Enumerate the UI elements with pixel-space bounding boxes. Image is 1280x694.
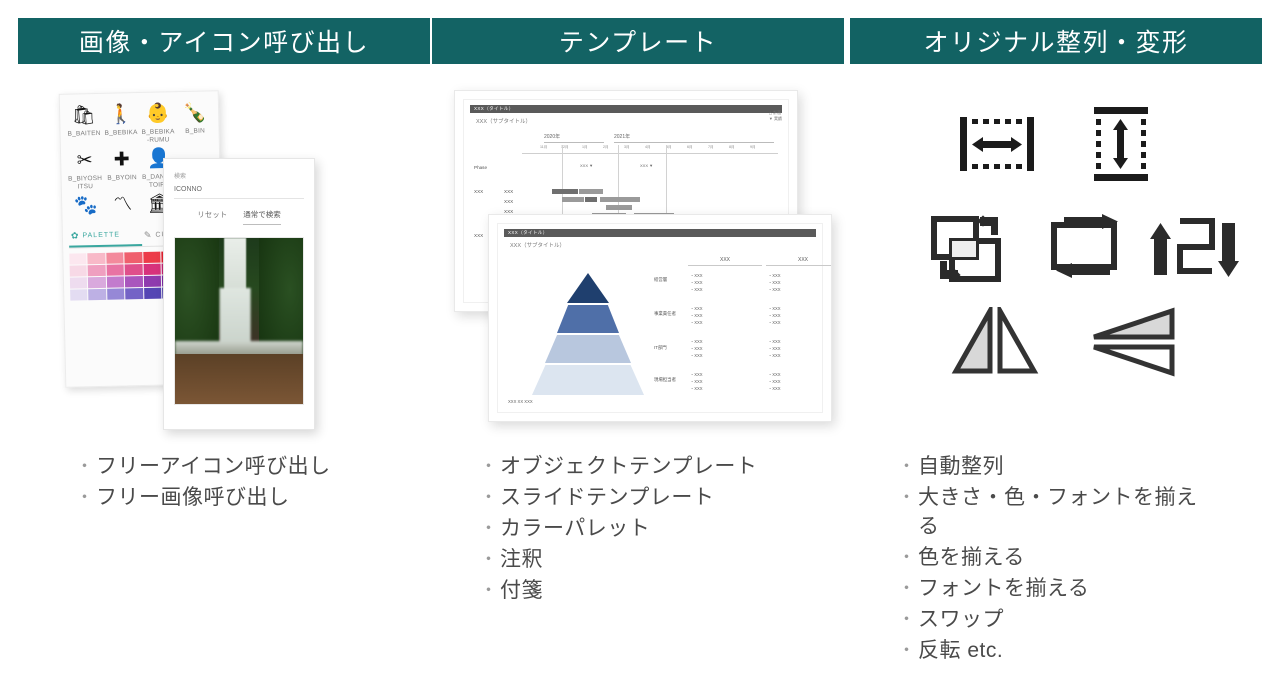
list-item-label: カラーパレット <box>500 514 790 543</box>
list-item-label: 色を揃える <box>918 543 1218 572</box>
list-item: ・ スライドテンプレート <box>480 483 840 512</box>
color-swatch[interactable] <box>124 252 142 263</box>
pyramid-cell: ・XXX <box>768 287 781 293</box>
pyramid-cell: ・XXX <box>690 372 703 378</box>
empty-icon-slot <box>178 146 213 147</box>
bullet-dot-icon: ・ <box>898 483 918 512</box>
list-item-label: フリーアイコン呼び出し <box>96 452 426 481</box>
pyramid-footnote: XXX XX XXX <box>508 399 533 404</box>
color-swatch[interactable] <box>88 253 106 264</box>
gantt-sub-label: XXX <box>504 189 513 194</box>
pyramid-level-1 <box>567 273 609 303</box>
pyramid-cell: ・XXX <box>768 353 781 359</box>
pyramid-cell: ・XXX <box>690 306 703 312</box>
column-template: テンプレート XXX（タイトル） XXX（サブタイトル） △ 計画 ▼ 実績 2 <box>432 0 844 694</box>
waterfall-photo <box>174 237 304 405</box>
list-item-label: 自動整列 <box>918 452 1218 481</box>
slide-title-bar: XXX（タイトル） <box>504 229 816 237</box>
gantt-month-tick: 4月 <box>645 145 651 150</box>
list-item-label: フォントを揃える <box>918 574 1218 603</box>
pyramid-cell: ・XXX <box>768 339 781 345</box>
bullet-dot-icon: ・ <box>898 574 918 603</box>
column-header-images-icons: 画像・アイコン呼び出し <box>18 18 430 64</box>
column-header-template: テンプレート <box>432 18 844 64</box>
pyramid-cell: ・XXX <box>690 353 703 359</box>
icon-cell[interactable]: 〽 <box>105 193 141 220</box>
pyramid-template-card[interactable]: XXX（タイトル） XXX（サブタイトル） 経営層 事業責任者 IT部門 <box>488 214 832 422</box>
pyramid-level-label: 経営層 <box>654 277 667 283</box>
pyramid-cell: ・XXX <box>690 280 703 286</box>
pyramid-subtitle: XXX（サブタイトル） <box>510 241 816 249</box>
icon-label: B_BAITEN <box>67 130 102 138</box>
icon-label <box>178 148 213 149</box>
swap-horizontal-icon[interactable] <box>1046 213 1130 283</box>
icon-cell[interactable]: 🚶 B_BEBIKA <box>103 103 139 145</box>
list-item: ・ オブジェクトテンプレート <box>480 452 840 481</box>
bullet-dot-icon: ・ <box>898 452 918 481</box>
gantt-year: 2020年 <box>544 133 604 143</box>
pyramid-cell: ・XXX <box>768 379 781 385</box>
pyramid-cell: ・XXX <box>768 372 781 378</box>
list-item: ・ 大きさ・色・フォントを揃える <box>898 483 1258 541</box>
pyramid-level-label: 事業責任者 <box>654 311 676 317</box>
reset-button[interactable]: リセット <box>197 209 227 225</box>
list-item-label: オブジェクトテンプレート <box>500 452 790 481</box>
scissors-icon: ✂ <box>67 149 103 174</box>
color-swatch[interactable] <box>70 289 88 300</box>
pyramid-cell: ・XXX <box>768 386 781 392</box>
gantt-legend: △ 計画 ▼ 実績 <box>769 110 782 122</box>
color-swatch[interactable] <box>125 288 143 299</box>
bullets-template: ・ オブジェクトテンプレート ・ スライドテンプレート ・ カラーパレット ・ … <box>480 452 840 607</box>
gantt-row-label: XXX <box>474 233 483 238</box>
gantt-sub-label: XXX <box>504 199 513 204</box>
pyramid-cell: ・XXX <box>690 346 703 352</box>
list-item: ・ フリー画像呼び出し <box>76 483 426 512</box>
color-swatch[interactable] <box>143 264 161 275</box>
distribute-horizontal-icon[interactable] <box>958 113 1036 175</box>
slide-title-bar: XXX（タイトル） <box>470 105 782 113</box>
list-item-label: スワップ <box>918 605 1218 634</box>
gantt-group-label: Phase <box>474 165 487 170</box>
shopping-bag-icon: 🛍 <box>66 104 102 129</box>
gantt-month-tick: 1月 <box>582 145 588 150</box>
pyramid-cell: ・XXX <box>690 379 703 385</box>
bullet-dot-icon: ・ <box>480 576 500 605</box>
resize-object-icon[interactable] <box>928 213 1012 283</box>
tab-palette-label: PALETTE <box>82 231 120 239</box>
color-swatch[interactable] <box>144 288 162 299</box>
pyramid-cell: ・XXX <box>690 320 703 326</box>
pyramid-cell: ・XXX <box>690 339 703 345</box>
color-swatch[interactable] <box>69 253 87 264</box>
pyramid-cell: ・XXX <box>768 346 781 352</box>
gantt-title: XXX（タイトル） <box>474 106 514 112</box>
gantt-year: 2021年 <box>614 133 774 143</box>
pyramid-level-4 <box>532 365 644 395</box>
color-swatch[interactable] <box>89 289 107 300</box>
pyramid-graphic <box>528 273 648 401</box>
tab-palette[interactable]: ✿ PALETTE <box>69 225 142 248</box>
flip-vertical-icon[interactable] <box>1088 307 1178 377</box>
icon-cell[interactable]: 🛍 B_BAITEN <box>66 104 102 146</box>
pyramid-column-header: XXX <box>766 257 832 266</box>
list-item: ・ 色を揃える <box>898 543 1258 572</box>
slope-icon: 〽 <box>105 193 141 218</box>
pyramid-cell: ・XXX <box>690 273 703 279</box>
color-swatch[interactable] <box>143 252 161 263</box>
color-swatch[interactable] <box>125 264 143 275</box>
color-swatch[interactable] <box>107 276 125 287</box>
riverbank <box>175 354 303 404</box>
list-item-label: スライドテンプレート <box>500 483 790 512</box>
gantt-bar <box>585 197 597 202</box>
pyramid-cell: ・XXX <box>690 386 703 392</box>
list-item: ・ 付箋 <box>480 576 840 605</box>
search-button[interactable]: 通常で検索 <box>243 209 281 225</box>
gantt-bar <box>552 189 578 194</box>
color-swatch[interactable] <box>143 276 161 287</box>
gantt-subtitle: XXX（サブタイトル） <box>476 117 782 125</box>
gantt-bar <box>606 205 632 210</box>
bottle-icon: 🍾 <box>177 101 213 126</box>
icon-cell[interactable]: ✂ B_BIYOSHITSU <box>67 149 103 191</box>
list-item-label: 付箋 <box>500 576 790 605</box>
pyramid-level-label: IT部門 <box>654 345 667 351</box>
gantt-month-tick: 3月 <box>624 145 630 150</box>
icon-cell[interactable]: ✚ B_BYOIN <box>104 148 140 190</box>
pyramid-slide: XXX（タイトル） XXX（サブタイトル） 経営層 事業責任者 IT部門 <box>497 223 823 413</box>
list-item: ・ フォントを揃える <box>898 574 1258 603</box>
column-header-align-transform: オリジナル整列・変形 <box>850 18 1262 64</box>
list-item-label: 反転 etc. <box>918 636 1218 665</box>
gantt-month-tick: 7月 <box>708 145 714 150</box>
color-swatch[interactable] <box>106 264 124 275</box>
list-item-label: 注釈 <box>500 545 790 574</box>
color-swatch[interactable] <box>125 276 143 287</box>
icon-label: B_BIN <box>177 127 212 135</box>
column-images-icons: 画像・アイコン呼び出し 🛍 B_BAITEN 🚶 B_BEBIKA 👶 B_BE <box>18 0 430 694</box>
gantt-month-tick: 9月 <box>750 145 756 150</box>
bullet-dot-icon: ・ <box>480 545 500 574</box>
search-card-actions: リセット 通常で検索 <box>174 209 304 225</box>
distribute-vertical-icon[interactable] <box>1090 105 1152 183</box>
icon-label: B_BYOIN <box>105 174 140 182</box>
gantt-milestone-label: XXX ▼ <box>640 163 653 168</box>
gantt-month-tick: 11月 <box>540 145 547 150</box>
column-align-transform: オリジナル整列・変形 <box>850 0 1262 694</box>
bullet-dot-icon: ・ <box>76 483 96 512</box>
pyramid-level-2 <box>557 305 619 333</box>
bullet-dot-icon: ・ <box>898 605 918 634</box>
icon-cell[interactable]: 👶 B_BEBIKA-RUMU <box>140 102 176 144</box>
brush-icon: ✎ <box>144 230 153 241</box>
icon-cell[interactable]: 🐾 <box>68 194 104 221</box>
slide-root: 画像・アイコン呼び出し 🛍 B_BAITEN 🚶 B_BEBIKA 👶 B_BE <box>0 0 1280 694</box>
pyramid-cell: ・XXX <box>690 313 703 319</box>
palette-icon: ✿ <box>71 230 80 241</box>
pyramid-title: XXX（タイトル） <box>508 230 548 236</box>
bullet-dot-icon: ・ <box>480 452 500 481</box>
color-swatch[interactable] <box>106 252 124 263</box>
list-item: ・ フリーアイコン呼び出し <box>76 452 426 481</box>
search-field-label: 検索 <box>174 171 304 180</box>
template-artwork: XXX（タイトル） XXX（サブタイトル） △ 計画 ▼ 実績 2020年 20… <box>432 88 844 428</box>
icon-label: B_BEBIKA-RUMU <box>141 128 176 144</box>
pyramid-diagram-area: 経営層 事業責任者 IT部門 現場担当者 XXX XXX ・XXX・XXX・XX… <box>504 259 816 409</box>
pyramid-cell: ・XXX <box>768 273 781 279</box>
icon-label: B_BEBIKA <box>104 129 139 137</box>
stroller-icon: 🚶 <box>103 103 139 128</box>
color-swatch[interactable] <box>70 277 88 288</box>
list-item: ・ 反転 etc. <box>898 636 1258 665</box>
icon-label: B_BIYOSHITSU <box>68 175 103 191</box>
list-item-label: 大きさ・色・フォントを揃える <box>918 483 1218 541</box>
pyramid-cell: ・XXX <box>768 280 781 286</box>
image-search-card[interactable]: 検索 ICONNO リセット 通常で検索 <box>163 158 315 430</box>
pyramid-level-label: 現場担当者 <box>654 377 676 383</box>
icon-label <box>106 219 141 220</box>
list-item: ・ 注釈 <box>480 545 840 574</box>
pyramid-cell: ・XXX <box>690 287 703 293</box>
bullet-dot-icon: ・ <box>480 483 500 512</box>
list-item: ・ スワップ <box>898 605 1258 634</box>
gantt-milestone-label: XXX ▼ <box>580 163 593 168</box>
gantt-bar <box>579 189 603 194</box>
gantt-year-axis: 2020年 2021年 <box>522 133 778 145</box>
paw-print-icon: 🐾 <box>68 194 104 219</box>
gantt-month-tick: 2月 <box>603 145 609 150</box>
gantt-bar <box>562 197 584 202</box>
pyramid-cell: ・XXX <box>768 320 781 326</box>
color-swatch[interactable] <box>88 265 106 276</box>
gantt-month-tick: 8月 <box>729 145 735 150</box>
color-swatch[interactable] <box>70 265 88 276</box>
legend-actual: ▼ 実績 <box>769 116 782 122</box>
pyramid-cell: ・XXX <box>768 306 781 312</box>
list-item-label: フリー画像呼び出し <box>96 483 426 512</box>
bullet-dot-icon: ・ <box>898 543 918 572</box>
icon-label <box>69 220 104 221</box>
list-item: ・ 自動整列 <box>898 452 1258 481</box>
gantt-row-label: XXX <box>474 189 483 194</box>
images-icons-artwork: 🛍 B_BAITEN 🚶 B_BEBIKA 👶 B_BEBIKA-RUMU 🍾 … <box>18 88 430 428</box>
bullets-align-transform: ・ 自動整列 ・ 大きさ・色・フォントを揃える ・ 色を揃える ・ フォントを揃… <box>898 452 1258 667</box>
pyramid-level-3 <box>545 335 631 363</box>
bullet-dot-icon: ・ <box>898 636 918 665</box>
gantt-bar <box>600 197 640 202</box>
transform-icons-artwork <box>850 95 1262 415</box>
color-swatch[interactable] <box>88 277 106 288</box>
color-swatch[interactable] <box>107 288 125 299</box>
gantt-month-tick: 6月 <box>687 145 693 150</box>
swap-vertical-icon[interactable] <box>1150 213 1242 283</box>
list-item: ・ カラーパレット <box>480 514 840 543</box>
divider <box>174 198 304 199</box>
bullet-dot-icon: ・ <box>76 452 96 481</box>
pyramid-column-header: XXX <box>688 257 762 266</box>
bullets-images-icons: ・ フリーアイコン呼び出し ・ フリー画像呼び出し <box>76 452 426 514</box>
pyramid-cell: ・XXX <box>768 313 781 319</box>
flip-horizontal-icon[interactable] <box>950 307 1040 377</box>
gantt-month-axis: 11月12月1月2月3月4月5月6月7月8月9月 <box>522 145 778 154</box>
baby-room-icon: 👶 <box>140 102 176 127</box>
bullet-dot-icon: ・ <box>480 514 500 543</box>
search-input[interactable]: ICONNO <box>174 186 304 193</box>
hospital-cross-icon: ✚ <box>104 148 140 173</box>
icon-cell[interactable]: 🍾 B_BIN <box>177 101 213 143</box>
